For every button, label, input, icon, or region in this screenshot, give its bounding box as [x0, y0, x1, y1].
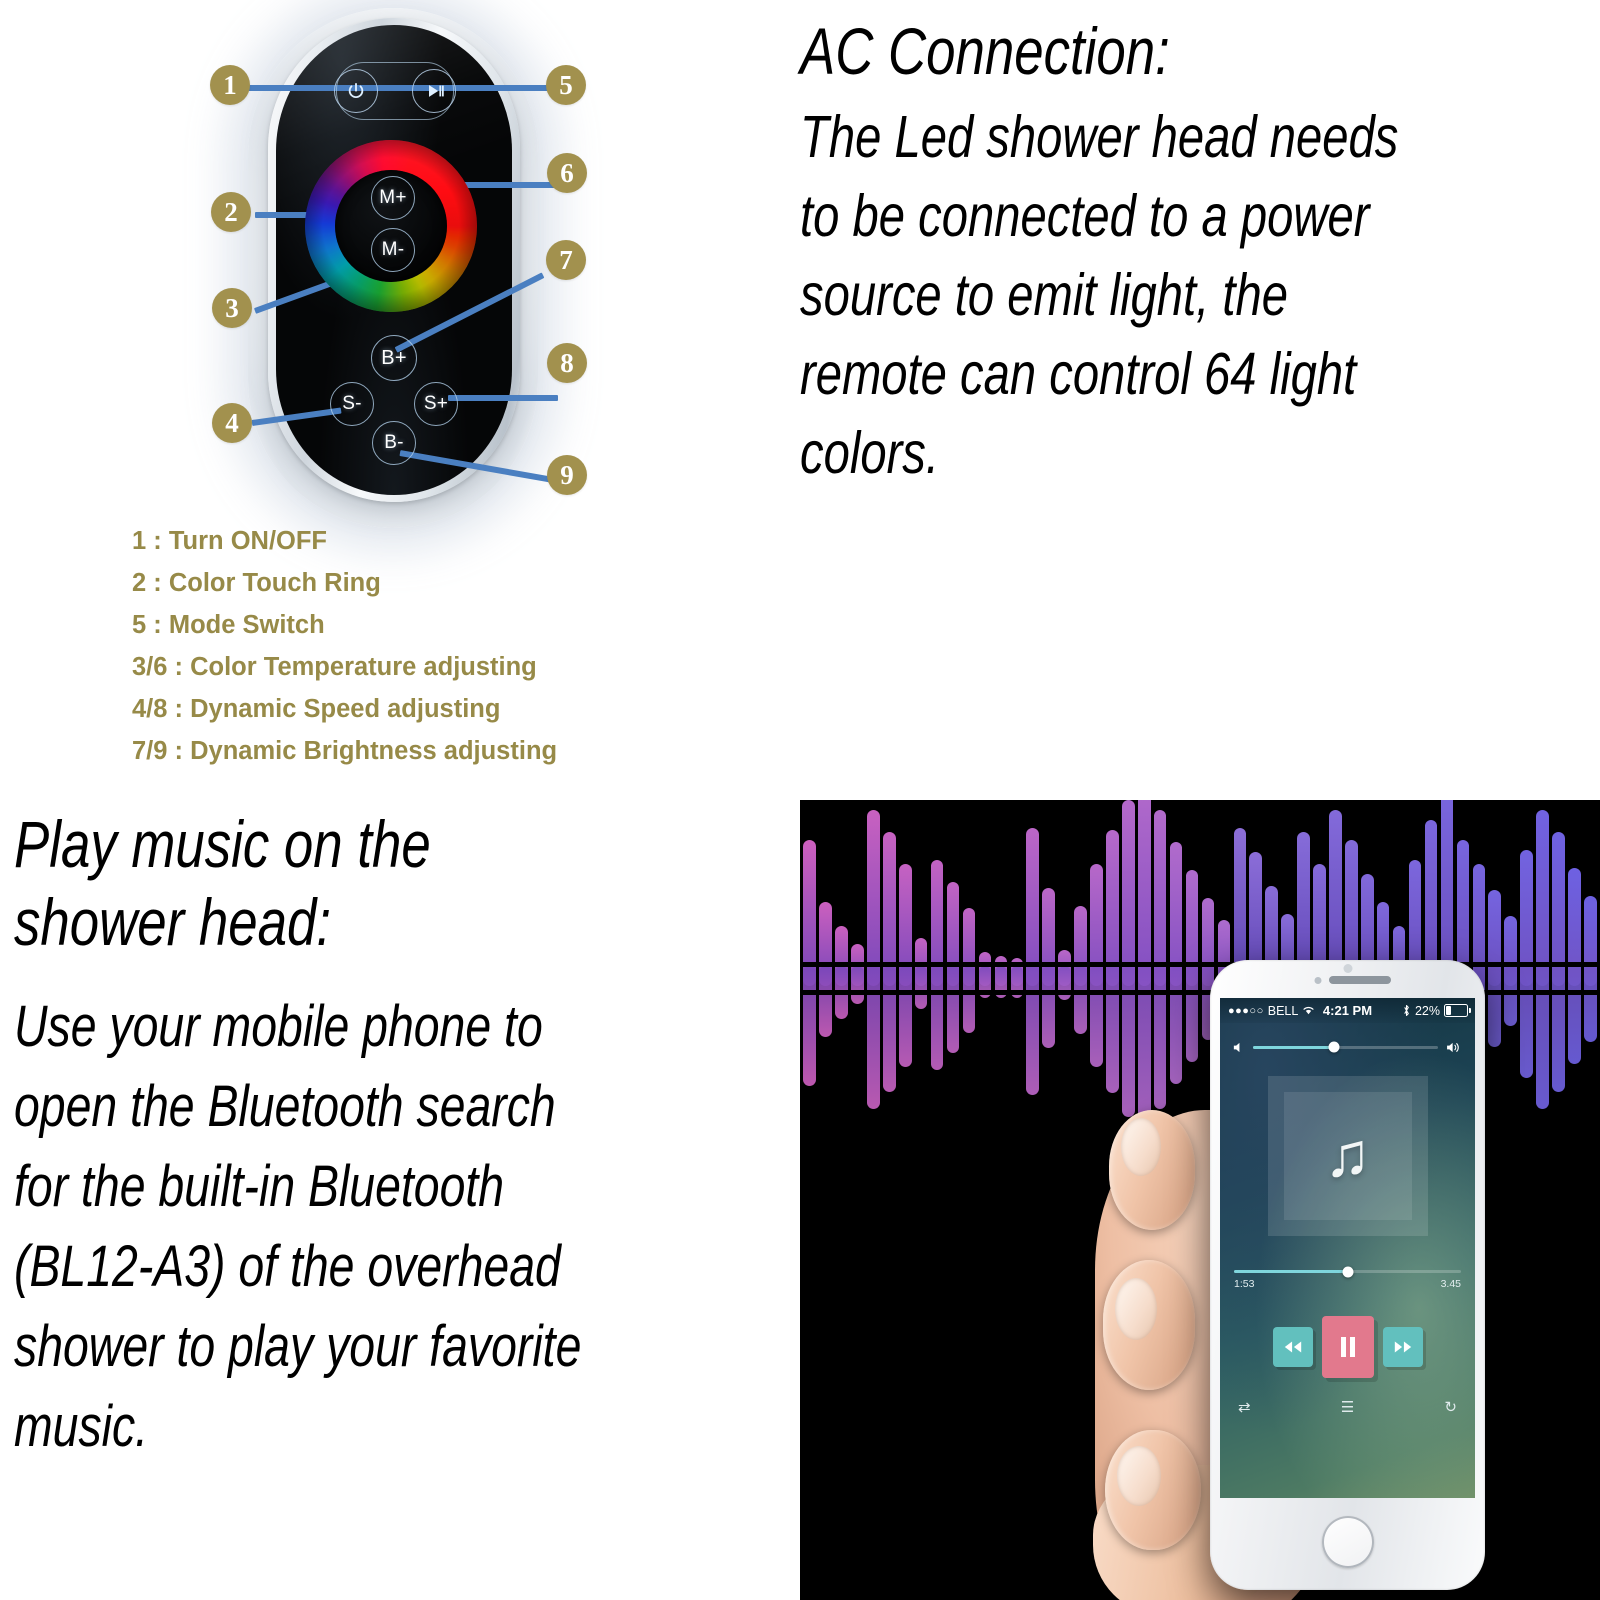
volume-knob[interactable]: [1329, 1042, 1340, 1053]
body-line: colors.: [800, 414, 1440, 493]
equalizer-bar-reflection: [1074, 966, 1087, 1034]
ac-connection-section: AC Connection: The Led shower head needs…: [800, 14, 1600, 493]
body-line: to be connected to a power: [800, 177, 1440, 256]
body-line: The Led shower head needs: [800, 98, 1440, 177]
total-time-label: 3.45: [1441, 1278, 1461, 1290]
remote-legend-list: 1 : Turn ON/OFF 2 : Color Touch Ring 5 :…: [132, 520, 752, 772]
earpiece-speaker: [1329, 976, 1391, 984]
mode-minus-button[interactable]: M-: [371, 228, 415, 272]
equalizer-bar-reflection: [1568, 966, 1581, 1064]
music-heading-line: shower head:: [14, 883, 646, 961]
player-bottom-bar: ⇄ ☰ ↻: [1220, 1398, 1475, 1416]
previous-button[interactable]: [1273, 1327, 1313, 1367]
equalizer-bar-reflection: [1488, 966, 1501, 1047]
fingernail: [1121, 1118, 1161, 1176]
body-line: (BL12-A3) of the overhead: [14, 1227, 646, 1307]
equalizer-bar: [1536, 810, 1549, 986]
equalizer-bar: [1441, 800, 1454, 986]
key-label: M+: [379, 187, 407, 209]
elapsed-time-label: 1:53: [1234, 1278, 1254, 1290]
legend-item: 3/6 : Color Temperature adjusting: [132, 646, 752, 688]
fingernail: [1117, 1446, 1161, 1506]
phone-in-hand: ●●●○○ BELL 4:21 PM 22%: [1155, 960, 1485, 1600]
home-button[interactable]: [1322, 1516, 1374, 1568]
infographic-root: M+ M- B+ S- S+ B- 1 2 3 4 5 6 7 8 9 1 : …: [0, 0, 1600, 1600]
equalizer-bar-reflection: [1026, 966, 1039, 1095]
equalizer-bar-reflection: [1584, 966, 1597, 1042]
phone-screen: ●●●○○ BELL 4:21 PM 22%: [1220, 998, 1475, 1498]
equalizer-bar-reflection: [1552, 966, 1565, 1092]
body-line: source to emit light, the: [800, 256, 1440, 335]
key-label: B+: [381, 347, 407, 370]
key-label: S+: [424, 393, 448, 415]
callout-1: 1: [210, 65, 250, 105]
equalizer-bar-reflection: [1504, 966, 1517, 1026]
equalizer-bar-reflection: [947, 966, 960, 1053]
pause-button[interactable]: [1322, 1316, 1374, 1378]
top-button-pill: [336, 62, 454, 120]
equalizer-bar-reflection: [1520, 966, 1533, 1078]
equalizer-bar-reflection: [915, 966, 928, 1009]
volume-fill: [1253, 1046, 1334, 1049]
album-art-inner: ♫: [1284, 1092, 1412, 1220]
equalizer-bar-reflection: [899, 966, 912, 1067]
front-camera-icon: [1343, 964, 1352, 973]
key-label: S-: [342, 393, 362, 415]
callout-8: 8: [547, 343, 587, 383]
repeat-icon[interactable]: ↻: [1444, 1398, 1457, 1416]
equalizer-bar-reflection: [803, 966, 816, 1086]
next-button[interactable]: [1383, 1327, 1423, 1367]
color-touch-ring[interactable]: [305, 140, 477, 312]
music-note-icon: ♫: [1324, 1125, 1371, 1187]
transport-controls: [1220, 1316, 1475, 1378]
equalizer-bar-reflection: [1042, 966, 1055, 1048]
equalizer-bar-reflection: [963, 966, 976, 1033]
equalizer-bar: [867, 810, 880, 986]
progress-times: 1:53 3.45: [1234, 1278, 1461, 1290]
callout-5: 5: [546, 65, 586, 105]
power-icon: [346, 81, 366, 101]
body-line: remote can control 64 light: [800, 335, 1440, 414]
fastforward-icon: [1393, 1340, 1413, 1354]
body-line: shower to play your favorite: [14, 1307, 646, 1387]
mode-plus-button[interactable]: M+: [371, 176, 415, 220]
equalizer-bar-reflection: [851, 966, 864, 1004]
carrier-label: BELL: [1268, 1004, 1299, 1018]
smartphone: ●●●○○ BELL 4:21 PM 22%: [1210, 960, 1485, 1590]
battery-icon: [1444, 1004, 1468, 1017]
music-visual-panel: ●●●○○ BELL 4:21 PM 22%: [800, 800, 1600, 1600]
music-heading-line: Play music on the: [14, 805, 646, 883]
music-body: Use your mobile phone to open the Blueto…: [14, 987, 646, 1467]
body-line: Use your mobile phone to: [14, 987, 646, 1067]
callout-4: 4: [212, 403, 252, 443]
equalizer-bar: [1122, 800, 1135, 986]
clock-label: 4:21 PM: [1323, 1003, 1372, 1018]
equalizer-bar-reflection: [1122, 966, 1135, 1117]
volume-high-icon: [1446, 1041, 1463, 1054]
rewind-icon: [1283, 1340, 1303, 1354]
legend-item: 5 : Mode Switch: [132, 604, 752, 646]
play-pause-button[interactable]: [412, 69, 456, 113]
equalizer-bar-reflection: [931, 966, 944, 1070]
progress-fill: [1234, 1270, 1348, 1273]
progress-track[interactable]: [1234, 1270, 1461, 1273]
equalizer-bar-reflection: [1536, 966, 1549, 1109]
power-button[interactable]: [334, 69, 378, 113]
sensor-dot: [1314, 977, 1321, 984]
key-label: B-: [384, 432, 404, 454]
wifi-icon: [1302, 1005, 1315, 1016]
ac-connection-body: The Led shower head needs to be connecte…: [800, 98, 1440, 493]
remote-control-panel: M+ M- B+ S- S+ B- 1 2 3 4 5 6 7 8 9 1 : …: [0, 0, 800, 790]
legend-item: 7/9 : Dynamic Brightness adjusting: [132, 730, 752, 772]
progress-knob[interactable]: [1342, 1266, 1353, 1277]
callout-3: 3: [212, 288, 252, 328]
track-progress[interactable]: 1:53 3.45: [1234, 1270, 1461, 1290]
brightness-minus-button[interactable]: B-: [372, 421, 416, 465]
callout-7: 7: [546, 240, 586, 280]
battery-percent-label: 22%: [1415, 1004, 1440, 1018]
equalizer-bar-reflection: [1106, 966, 1119, 1093]
speed-plus-button[interactable]: S+: [414, 382, 458, 426]
fingernail: [1115, 1278, 1157, 1340]
equalizer-bar-reflection: [883, 966, 896, 1092]
shuffle-icon[interactable]: ⇄: [1238, 1398, 1251, 1416]
pause-icon: [1339, 1336, 1357, 1358]
volume-track[interactable]: [1253, 1046, 1438, 1049]
legend-item: 2 : Color Touch Ring: [132, 562, 752, 604]
equalizer-bar-reflection: [1090, 966, 1103, 1067]
key-label: M-: [382, 239, 405, 261]
legend-item: 4/8 : Dynamic Speed adjusting: [132, 688, 752, 730]
leader-line-8: [448, 395, 558, 401]
music-section: Play music on the shower head: Use your …: [14, 805, 804, 1467]
status-right: 22%: [1402, 1004, 1468, 1018]
album-art: ♫: [1268, 1076, 1428, 1236]
callout-6: 6: [547, 153, 587, 193]
legend-item: 1 : Turn ON/OFF: [132, 520, 752, 562]
speed-minus-button[interactable]: S-: [330, 382, 374, 426]
body-line: music.: [14, 1387, 646, 1467]
bluetooth-icon: [1402, 1004, 1411, 1017]
body-line: for the built-in Bluetooth: [14, 1147, 646, 1227]
callout-9: 9: [547, 455, 587, 495]
callout-2: 2: [211, 192, 251, 232]
status-left: ●●●○○ BELL: [1220, 1004, 1315, 1018]
playlist-icon[interactable]: ☰: [1341, 1398, 1354, 1416]
play-pause-icon: [423, 81, 445, 101]
signal-dots-icon: ●●●○○: [1228, 1005, 1264, 1017]
volume-low-icon: [1232, 1041, 1245, 1054]
volume-slider-row[interactable]: [1220, 1034, 1475, 1060]
equalizer-bar-reflection: [867, 966, 880, 1109]
brightness-plus-button[interactable]: B+: [371, 335, 417, 381]
equalizer-bar-reflection: [819, 966, 832, 1037]
equalizer-bar: [1138, 800, 1151, 986]
ac-connection-heading: AC Connection:: [800, 14, 1440, 88]
status-bar: ●●●○○ BELL 4:21 PM 22%: [1220, 998, 1475, 1023]
body-line: open the Bluetooth search: [14, 1067, 646, 1147]
